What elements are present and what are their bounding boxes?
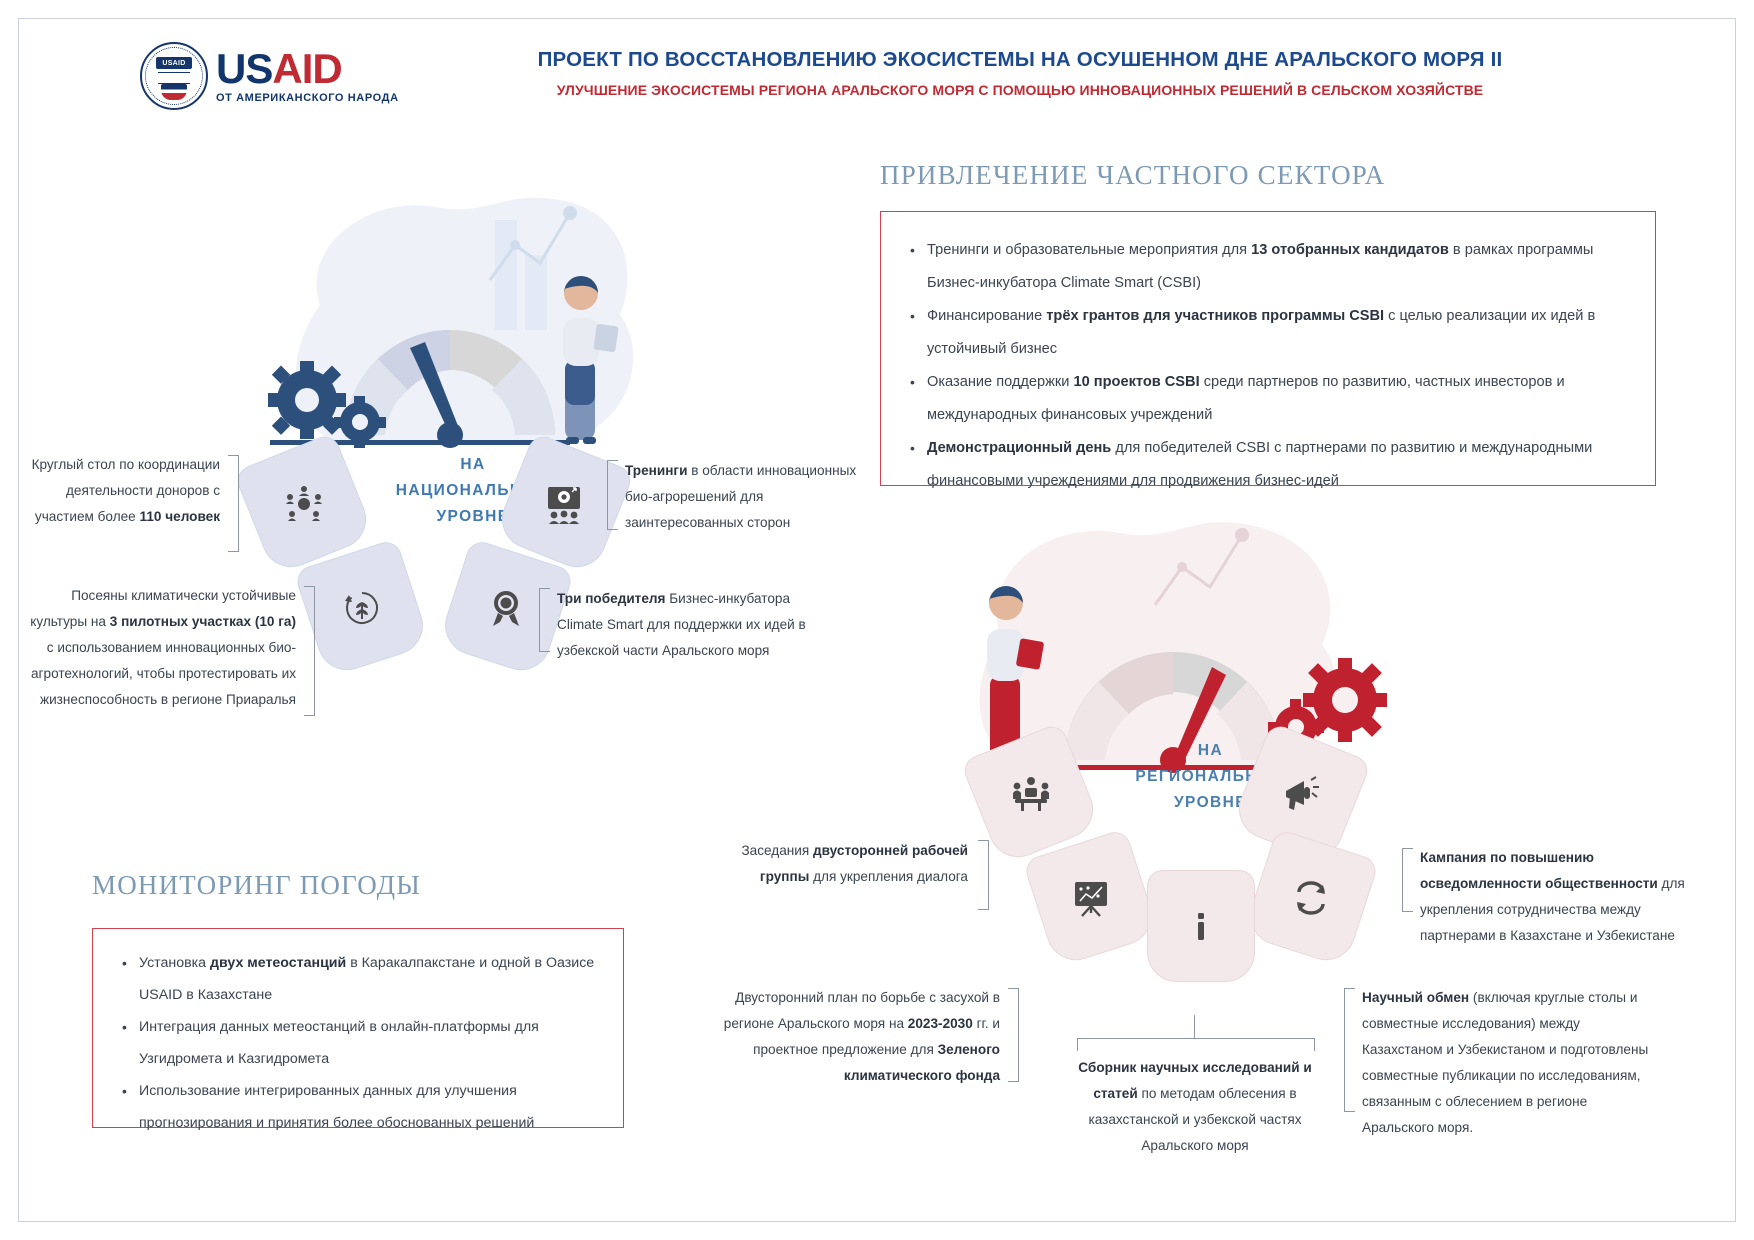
infographic-page: USAID USAID ОТ АМЕРИКАНСКОГО НАРОДА ПРОЕ… [0,0,1754,1240]
usaid-wordmark-aid: AID [272,45,341,92]
title-block: ПРОЕКТ ПО ВОССТАНОВЛЕНИЮ ЭКОСИСТЕМЫ НА О… [420,48,1620,98]
annotation-drought-plan: Двусторонний план по борьбе с засухой в … [700,985,1000,1089]
annotation-bilateral-working-group: Заседания двусторонней рабочей группы дл… [700,838,968,890]
weather-box: Установка двух метеостанций в Каракалпак… [92,928,624,1128]
award-ribbon-icon [487,589,525,627]
list-item: Интеграция данных метеостанций в онлайн-… [119,1011,601,1075]
annotation-awareness-campaign: Кампания по повышению осведомленности об… [1420,845,1700,949]
crop-cycle-icon [343,589,381,627]
page-title: ПРОЕКТ ПО ВОССТАНОВЛЕНИЮ ЭКОСИСТЕМЫ НА О… [420,48,1620,72]
list-item: Установка двух метеостанций в Каракалпак… [119,947,601,1011]
private-sector-title: ПРИВЛЕЧЕНИЕ ЧАСТНОГО СЕКТОРА [880,160,1385,191]
annotation-research-compendium: Сборник научных исследований и статей по… [1068,1055,1322,1159]
bracket-trainings [607,460,618,530]
chart-board-icon [1072,879,1110,917]
round-table-people-icon [284,484,324,524]
presentation-training-icon [544,484,584,524]
private-sector-bullet-list: Тренинги и образовательные мероприятия д… [907,234,1629,498]
bracket-pilot-plots [304,586,315,716]
usaid-logo: USAID USAID ОТ АМЕРИКАНСКОГО НАРОДА [140,42,399,110]
connector-research-compendium [1194,1015,1195,1039]
list-item: Тренинги и образовательные мероприятия д… [907,234,1629,300]
annotation-three-winners: Три победителя Бизнес-инкубатора Climate… [557,586,812,664]
list-item: Использование интегрированных данных для… [119,1075,601,1139]
list-item: Оказание поддержки 10 проектов CSBI сред… [907,366,1629,432]
usaid-wordmark: USAID ОТ АМЕРИКАНСКОГО НАРОДА [216,48,399,104]
annotation-trainings: Тренинги в области инновационных био-агр… [625,458,870,536]
petal-exchange[interactable] [1242,828,1379,968]
bracket-drought-plan [1008,988,1019,1082]
annotation-scientific-exchange: Научный обмен (включая круглые столы и с… [1362,985,1660,1141]
information-icon [1186,909,1216,943]
meeting-table-icon [1011,775,1051,813]
national-illustration [250,185,700,475]
usaid-seal-icon: USAID [140,42,208,110]
bracket-research-compendium [1077,1038,1315,1051]
private-sector-box: Тренинги и образовательные мероприятия д… [880,211,1656,486]
usaid-seal-label: USAID [156,57,192,69]
megaphone-icon [1282,775,1320,813]
weather-title: МОНИТОРИНГ ПОГОДЫ [92,870,421,901]
bracket-bilateral-working-group [978,840,989,910]
national-illustration-svg [250,185,700,475]
exchange-arrows-icon [1292,881,1330,915]
annotation-pilot-plots: Посеяны климатически устойчивые культуры… [28,583,296,713]
weather-bullet-list: Установка двух метеостанций в Каракалпак… [119,947,601,1139]
annotation-round-table: Круглый стол по координации деятельности… [20,452,220,530]
list-item: Демонстрационный день для победителей CS… [907,432,1629,498]
page-subtitle: УЛУЧШЕНИЕ ЭКОСИСТЕМЫ РЕГИОНА АРАЛЬСКОГО … [420,82,1620,98]
usaid-tagline: ОТ АМЕРИКАНСКОГО НАРОДА [216,93,399,104]
list-item: Финансирование трёх грантов для участник… [907,300,1629,366]
header: USAID USAID ОТ АМЕРИКАНСКОГО НАРОДА ПРОЕ… [120,40,1620,122]
usaid-wordmark-us: US [216,45,272,92]
bracket-round-table [228,455,239,552]
bracket-scientific-exchange [1344,988,1355,1112]
bracket-three-winners [539,588,550,652]
bracket-awareness-campaign [1402,848,1413,912]
petal-information[interactable] [1147,870,1255,982]
